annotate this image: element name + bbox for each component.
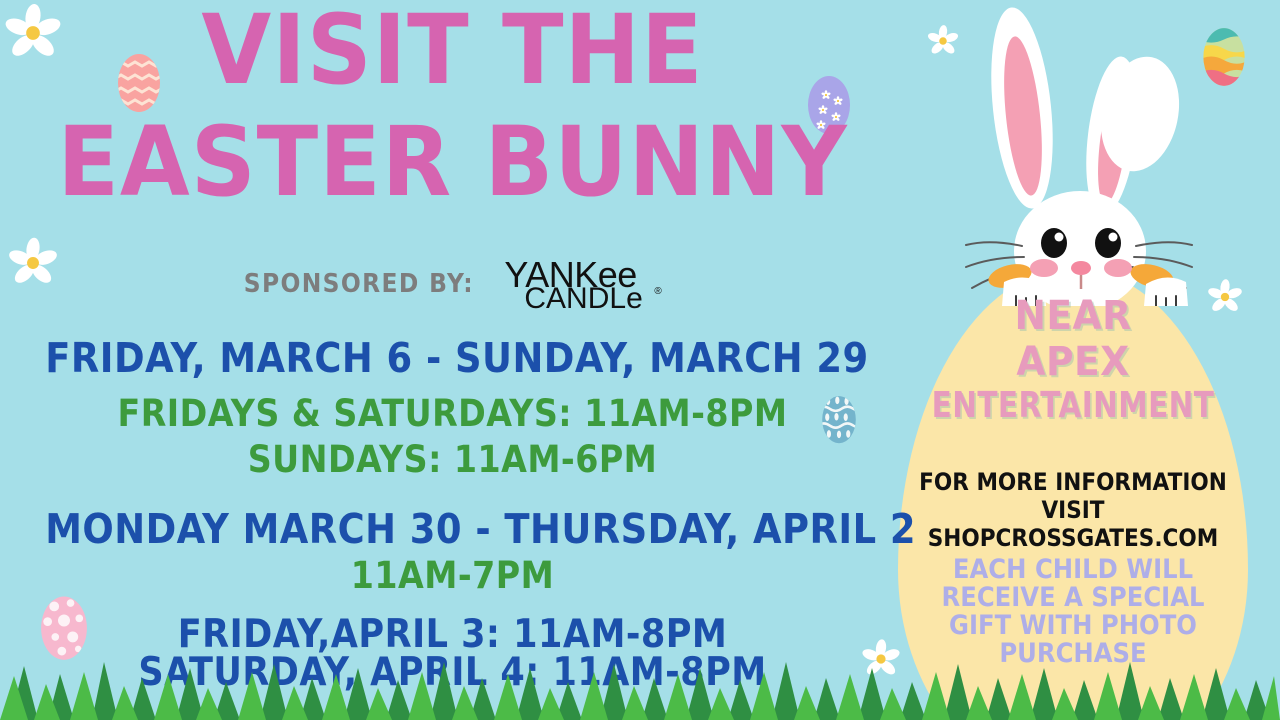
egg-info-line-2[interactable]: VISIT SHOPCROSSGATES.COM bbox=[916, 496, 1231, 552]
sponsored-by-label: SPONSORED BY: bbox=[243, 269, 473, 299]
egg-note-line-2: RECEIVE A SPECIAL bbox=[916, 584, 1231, 611]
headline-line-2: EASTER BUNNY bbox=[27, 118, 878, 206]
main-text-column: VISIT THE EASTER BUNNY SPONSORED BY: YAN… bbox=[0, 0, 905, 720]
easter-bunny-icon bbox=[960, 0, 1230, 306]
egg-heading-line-1: NEAR bbox=[909, 296, 1238, 336]
sponsor-row: SPONSORED BY: YANKee CANDLe ® bbox=[0, 256, 905, 312]
schedule-line-1: FRIDAY, MARCH 6 - SUNDAY, MARCH 29 bbox=[45, 334, 860, 382]
schedule-line-4: MONDAY MARCH 30 - THURSDAY, APRIL 2 bbox=[45, 505, 860, 553]
schedule-line-2: FRIDAYS & SATURDAYS: 11AM-8PM bbox=[45, 392, 860, 435]
egg-note-line-3: GIFT WITH PHOTO bbox=[916, 612, 1231, 639]
headline-line-1: VISIT THE bbox=[27, 6, 878, 94]
easter-bunny-poster: NEAR APEX ENTERTAINMENT FOR MORE INFORMA… bbox=[0, 0, 1280, 720]
egg-info-line-1: FOR MORE INFORMATION bbox=[916, 468, 1231, 496]
egg-heading-line-3: ENTERTAINMENT bbox=[930, 388, 1217, 424]
schedule-line-5: 11AM-7PM bbox=[45, 554, 860, 597]
registered-trademark-mark: ® bbox=[654, 286, 661, 297]
daisy-flower-icon bbox=[926, 24, 960, 58]
egg-note-line-1: EACH CHILD WILL bbox=[916, 556, 1231, 583]
yankee-candle-logo: YANKee CANDLe ® bbox=[504, 256, 674, 312]
schedule-line-3: SUNDAYS: 11AM-6PM bbox=[45, 438, 860, 481]
grass-border bbox=[0, 648, 1280, 720]
egg-heading-line-2: APEX bbox=[909, 342, 1238, 382]
yankee-candle-logo-bottom: CANDLe bbox=[524, 282, 642, 316]
